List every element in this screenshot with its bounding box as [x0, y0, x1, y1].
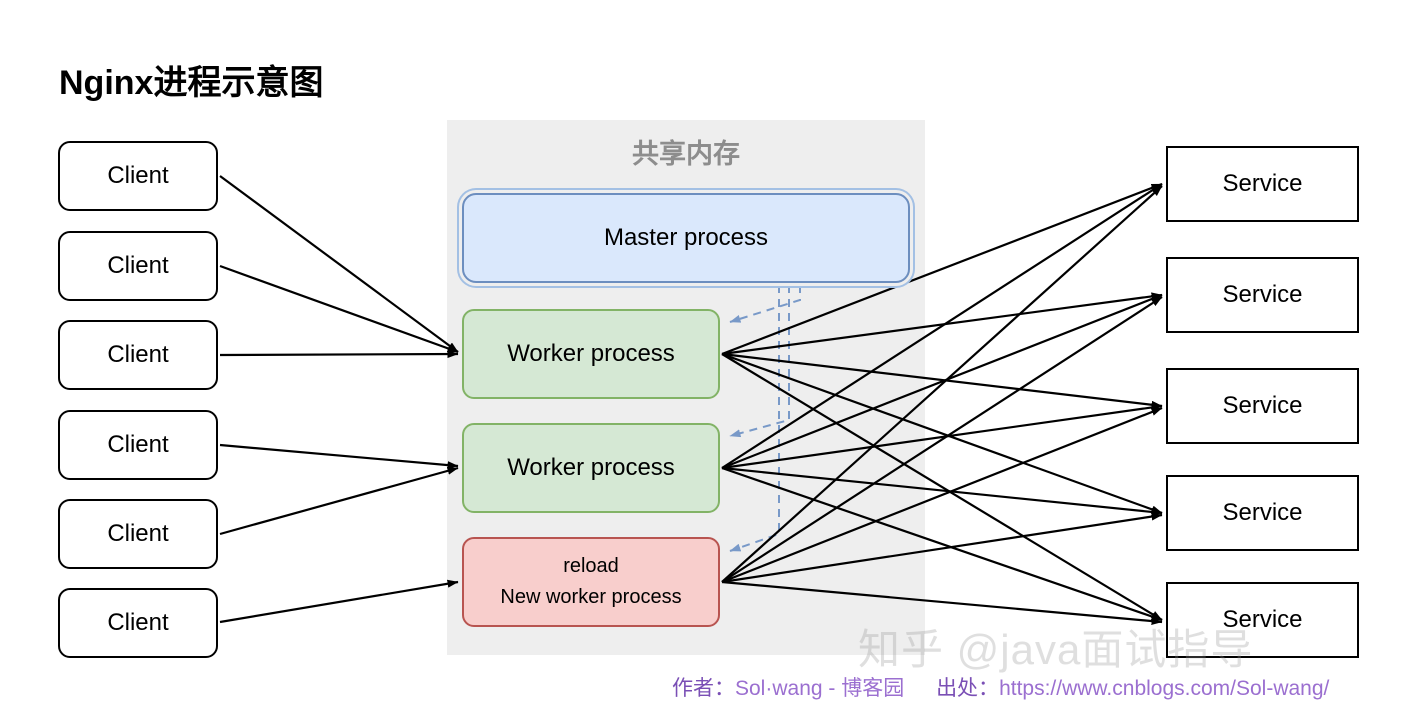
service-box-3[interactable]: Service: [1166, 368, 1359, 444]
connector-client5-worker2: [220, 468, 458, 534]
zhihu-watermark: 知乎 @java面试指导: [858, 616, 1253, 677]
shared-memory-label: 共享内存: [447, 132, 925, 171]
author-value: Sol·wang - 博客园: [735, 677, 904, 700]
connector-client1-worker1: [220, 176, 458, 352]
client-box-3[interactable]: Client: [58, 320, 218, 390]
client-label: Client: [107, 251, 168, 281]
service-label: Service: [1222, 391, 1302, 421]
service-box-4[interactable]: Service: [1166, 475, 1359, 551]
service-label: Service: [1222, 169, 1302, 199]
connector-client6-reload: [220, 582, 458, 622]
author-label: 作者：: [672, 677, 735, 700]
footer-credit: 作者：Sol·wang - 博客园 出处：https://www.cnblogs…: [672, 672, 1355, 702]
connector-client2-worker1: [220, 266, 458, 352]
source-value: https://www.cnblogs.com/Sol-wang/: [999, 677, 1329, 700]
service-label: Service: [1222, 498, 1302, 528]
client-box-1[interactable]: Client: [58, 141, 218, 211]
client-box-4[interactable]: Client: [58, 410, 218, 480]
worker-process-box-1[interactable]: Worker process: [462, 309, 720, 399]
client-connectors: [220, 176, 458, 622]
master-process-box[interactable]: Master process: [462, 193, 910, 283]
reload-label: reload: [563, 554, 619, 579]
client-label: Client: [107, 161, 168, 191]
worker-process-box-2[interactable]: Worker process: [462, 423, 720, 513]
service-box-2[interactable]: Service: [1166, 257, 1359, 333]
reload-new-worker-box[interactable]: reload New worker process: [462, 537, 720, 627]
client-box-2[interactable]: Client: [58, 231, 218, 301]
client-label: Client: [107, 519, 168, 549]
worker-process-label: Worker process: [507, 453, 675, 483]
worker-process-label: Worker process: [507, 339, 675, 369]
connector-client4-worker2: [220, 445, 458, 466]
source-label: 出处：: [936, 677, 999, 700]
new-worker-process-label: New worker process: [500, 585, 681, 610]
page-title: Nginx进程示意图: [59, 55, 323, 104]
client-label: Client: [107, 430, 168, 460]
connector-client3-worker1: [220, 354, 458, 355]
client-label: Client: [107, 340, 168, 370]
client-label: Client: [107, 608, 168, 638]
service-label: Service: [1222, 280, 1302, 310]
client-box-6[interactable]: Client: [58, 588, 218, 658]
client-box-5[interactable]: Client: [58, 499, 218, 569]
diagram-canvas: Nginx进程示意图 共享内存: [0, 0, 1408, 712]
master-process-label: Master process: [604, 223, 768, 253]
service-box-1[interactable]: Service: [1166, 146, 1359, 222]
